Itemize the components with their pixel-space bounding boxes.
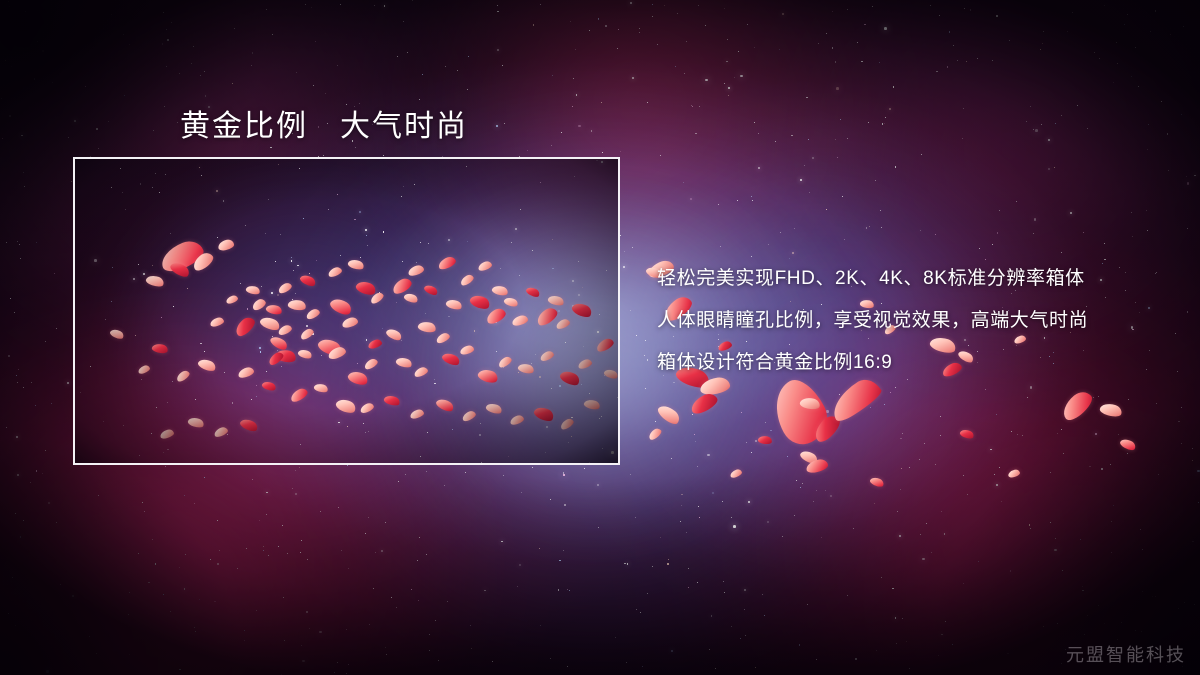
presentation-slide: 黄金比例 大气时尚 轻松完美实现FHD、2K、4K、8K标准分辨率箱体 人体眼睛…	[0, 0, 1200, 675]
page-title: 黄金比例 大气时尚	[180, 101, 468, 145]
framed-image	[73, 157, 620, 465]
body-line-3: 箱体设计符合黄金比例16:9	[657, 342, 1177, 384]
framed-image-vignette	[75, 159, 618, 463]
body-line-2: 人体眼睛瞳孔比例，享受视觉效果，高端大气时尚	[657, 300, 1177, 342]
body-copy: 轻松完美实现FHD、2K、4K、8K标准分辨率箱体 人体眼睛瞳孔比例，享受视觉效…	[657, 258, 1177, 384]
star	[519, 157, 520, 158]
body-line-1: 轻松完美实现FHD、2K、4K、8K标准分辨率箱体	[657, 258, 1177, 300]
star	[618, 214, 619, 215]
watermark: 元盟智能科技	[1066, 641, 1186, 667]
star	[326, 464, 327, 465]
star	[618, 203, 619, 204]
